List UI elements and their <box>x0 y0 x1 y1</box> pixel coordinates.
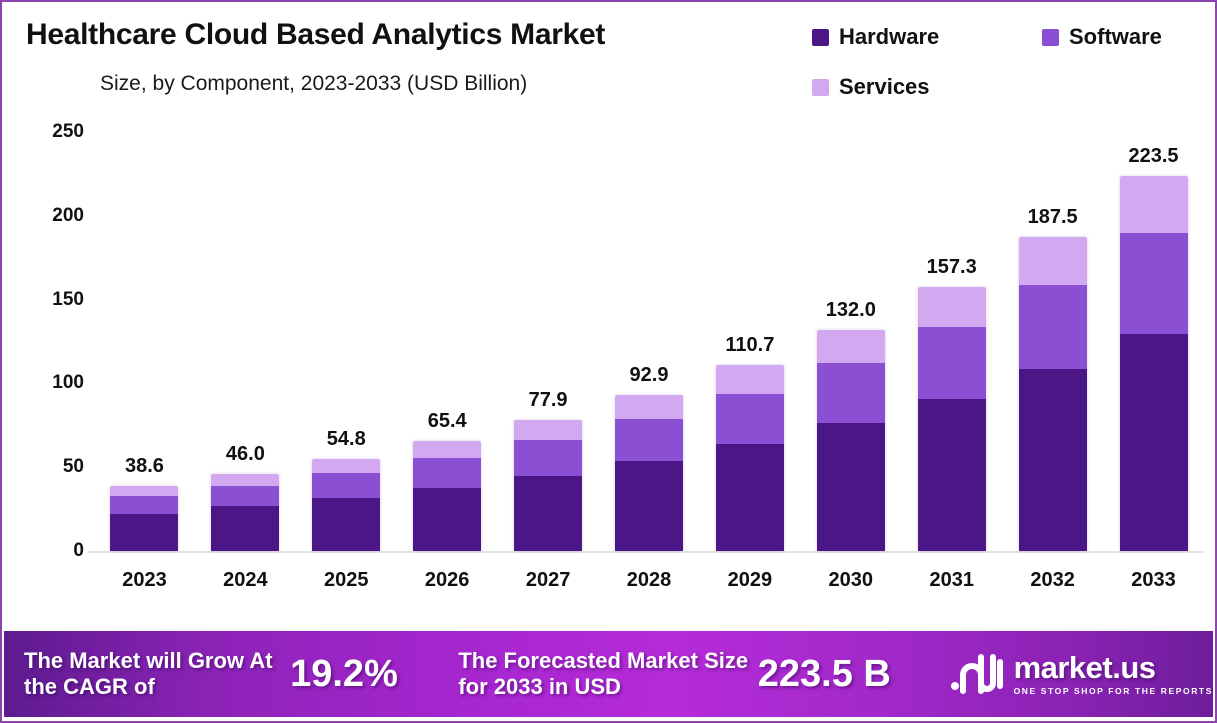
bar-segment-software[interactable] <box>918 327 986 398</box>
bar-stack[interactable] <box>615 395 683 551</box>
bar-segment-services[interactable] <box>413 441 481 458</box>
y-axis-tick-label: 100 <box>52 372 84 394</box>
legend-label: Hardware <box>839 24 939 50</box>
bar-group[interactable]: 65.4 <box>411 132 483 551</box>
bar-segment-hardware[interactable] <box>716 444 784 551</box>
legend-label: Software <box>1069 24 1162 50</box>
logo-text: market.us ONE STOP SHOP FOR THE REPORTS <box>1014 652 1213 696</box>
bar-segment-hardware[interactable] <box>918 399 986 552</box>
bar-segment-hardware[interactable] <box>1019 369 1087 551</box>
y-axis-tick-label: 250 <box>52 121 84 143</box>
bar-segment-services[interactable] <box>918 287 986 327</box>
x-axis-tick-label: 2026 <box>411 569 483 592</box>
x-axis-tick-label: 2024 <box>209 569 281 592</box>
bar-segment-services[interactable] <box>110 486 178 496</box>
legend-item-services[interactable]: Services <box>812 74 930 100</box>
bar-value-label: 65.4 <box>428 410 467 433</box>
bar-value-label: 46.0 <box>226 443 265 466</box>
chart-figure: Healthcare Cloud Based Analytics Market … <box>0 0 1217 723</box>
bar-stack[interactable] <box>817 330 885 551</box>
bar-segment-software[interactable] <box>817 363 885 423</box>
bar-group[interactable]: 223.5 <box>1118 132 1190 551</box>
x-axis: 2023202420252026202720282029203020312032… <box>94 560 1204 600</box>
bar-segment-hardware[interactable] <box>514 476 582 551</box>
bar-stack[interactable] <box>514 420 582 551</box>
legend-swatch-icon <box>812 29 829 46</box>
bar-segment-software[interactable] <box>514 440 582 475</box>
market-us-logo-icon <box>950 653 1004 695</box>
bar-segment-services[interactable] <box>514 420 582 440</box>
x-axis-tick-label: 2032 <box>1017 569 1089 592</box>
legend-swatch-icon <box>812 79 829 96</box>
bar-value-label: 110.7 <box>725 334 774 357</box>
page-title: Healthcare Cloud Based Analytics Market <box>26 18 605 52</box>
bar-segment-software[interactable] <box>312 473 380 498</box>
bar-value-label: 157.3 <box>927 256 977 279</box>
x-axis-tick-label: 2027 <box>512 569 584 592</box>
chart-legend: Hardware Software Services <box>802 20 1202 112</box>
bar-segment-software[interactable] <box>716 394 784 444</box>
bar-segment-services[interactable] <box>615 395 683 419</box>
bar-stack[interactable] <box>716 365 784 551</box>
bar-stack[interactable] <box>1019 237 1087 551</box>
x-axis-tick-label: 2028 <box>613 569 685 592</box>
banner-cagr-label: The Market will Grow At the CAGR of <box>24 648 286 700</box>
bar-segment-services[interactable] <box>312 459 380 473</box>
y-axis-tick-label: 0 <box>73 540 84 562</box>
bar-group[interactable]: 77.9 <box>512 132 584 551</box>
legend-label: Services <box>839 74 930 100</box>
brand-logo[interactable]: market.us ONE STOP SHOP FOR THE REPORTS <box>950 652 1213 696</box>
chart-subtitle: Size, by Component, 2023-2033 (USD Billi… <box>100 72 527 96</box>
bar-segment-services[interactable] <box>817 330 885 364</box>
bar-segment-hardware[interactable] <box>817 423 885 551</box>
x-axis-tick-label: 2023 <box>108 569 180 592</box>
bar-segment-services[interactable] <box>211 474 279 486</box>
x-axis-tick-label: 2029 <box>714 569 786 592</box>
footer-banner: The Market will Grow At the CAGR of 19.2… <box>4 631 1213 717</box>
banner-forecast-value: 223.5 B <box>758 652 944 697</box>
x-axis-tick-label: 2030 <box>815 569 887 592</box>
legend-item-software[interactable]: Software <box>1042 24 1162 50</box>
bar-group[interactable]: 187.5 <box>1017 132 1089 551</box>
bar-stack[interactable] <box>918 287 986 551</box>
bar-group[interactable]: 132.0 <box>815 132 887 551</box>
bar-stack[interactable] <box>413 441 481 551</box>
plot-area: 050100150200250 38.646.054.865.477.992.9… <box>2 112 1215 612</box>
bar-segment-software[interactable] <box>211 486 279 507</box>
bar-segment-services[interactable] <box>1120 176 1188 233</box>
bar-segment-hardware[interactable] <box>211 506 279 551</box>
logo-tagline: ONE STOP SHOP FOR THE REPORTS <box>1014 686 1213 696</box>
y-axis-tick-label: 200 <box>52 205 84 227</box>
bar-stack[interactable] <box>1120 176 1188 551</box>
bar-segment-services[interactable] <box>716 365 784 393</box>
bar-segment-hardware[interactable] <box>615 461 683 551</box>
y-axis: 050100150200250 <box>2 112 92 572</box>
legend-swatch-icon <box>1042 29 1059 46</box>
bar-stack[interactable] <box>312 459 380 551</box>
y-axis-tick-label: 150 <box>52 289 84 311</box>
bar-value-label: 38.6 <box>125 455 164 478</box>
bar-value-label: 223.5 <box>1128 145 1178 168</box>
x-axis-tick-label: 2033 <box>1118 569 1190 592</box>
bar-segment-hardware[interactable] <box>312 498 380 551</box>
bar-stack[interactable] <box>110 486 178 551</box>
x-axis-baseline <box>88 551 1203 553</box>
bar-stack[interactable] <box>211 474 279 551</box>
y-axis-tick-label: 50 <box>63 456 84 478</box>
bar-group[interactable]: 46.0 <box>209 132 281 551</box>
bar-group[interactable]: 92.9 <box>613 132 685 551</box>
banner-forecast-label: The Forecasted Market Size for 2033 in U… <box>458 648 751 700</box>
bar-segment-software[interactable] <box>413 458 481 488</box>
bar-segment-services[interactable] <box>1019 237 1087 285</box>
bar-group[interactable]: 54.8 <box>310 132 382 551</box>
legend-item-hardware[interactable]: Hardware <box>812 24 939 50</box>
bar-value-label: 92.9 <box>630 364 669 387</box>
x-axis-tick-label: 2031 <box>916 569 988 592</box>
banner-cagr-value: 19.2% <box>290 652 458 697</box>
bar-segment-hardware[interactable] <box>110 514 178 551</box>
bar-series-container: 38.646.054.865.477.992.9110.7132.0157.31… <box>94 132 1204 551</box>
bar-segment-hardware[interactable] <box>413 488 481 551</box>
bar-group[interactable]: 157.3 <box>916 132 988 551</box>
bar-segment-software[interactable] <box>1120 233 1188 334</box>
bar-segment-software[interactable] <box>615 419 683 461</box>
logo-name: market.us <box>1014 652 1213 683</box>
bar-value-label: 77.9 <box>529 389 568 412</box>
bar-group[interactable]: 110.7 <box>714 132 786 551</box>
bar-value-label: 132.0 <box>826 299 876 322</box>
bar-segment-hardware[interactable] <box>1120 334 1188 551</box>
bar-group[interactable]: 38.6 <box>108 132 180 551</box>
bar-segment-software[interactable] <box>110 496 178 513</box>
bar-value-label: 187.5 <box>1028 206 1078 229</box>
bar-value-label: 54.8 <box>327 428 366 451</box>
x-axis-tick-label: 2025 <box>310 569 382 592</box>
bar-segment-software[interactable] <box>1019 285 1087 370</box>
